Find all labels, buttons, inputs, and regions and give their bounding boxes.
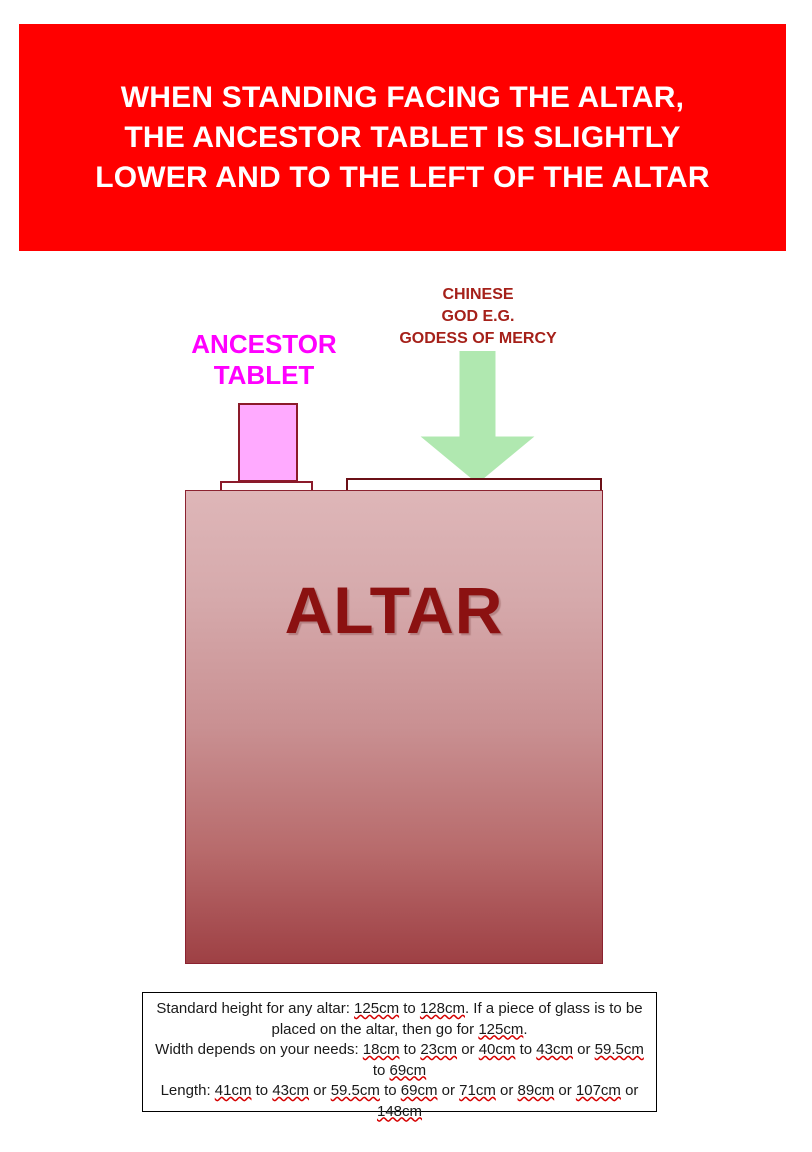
caption-line-2: Width depends on your needs: 18cm to 23c… — [150, 1040, 649, 1081]
altar-object: ALTAR — [185, 490, 603, 964]
chinese-god-label-line-1: CHINESE — [368, 284, 588, 306]
ancestor-tablet-label: ANCESTOR TABLET — [154, 329, 374, 391]
down-arrow-icon — [420, 351, 535, 484]
ancestor-tablet-label-line-2: TABLET — [154, 360, 374, 391]
chinese-god-label-line-2: GOD E.G. — [368, 306, 588, 328]
altar-label: ALTAR — [285, 575, 504, 645]
caption-line-1: Standard height for any altar: 125cm to … — [150, 999, 649, 1040]
ancestor-tablet-object — [238, 403, 298, 482]
ancestor-tablet-label-line-1: ANCESTOR — [154, 329, 374, 360]
dimensions-caption-box: Standard height for any altar: 125cm to … — [142, 992, 657, 1112]
caption-line-3: Length: 41cm to 43cm or 59.5cm to 69cm o… — [150, 1081, 649, 1122]
chinese-god-label-line-3: GODESS OF MERCY — [368, 328, 588, 350]
chinese-god-label: CHINESE GOD E.G. GODESS OF MERCY — [368, 284, 588, 350]
altar-diagram: ANCESTOR TABLET CHINESE GOD E.G. GODESS … — [0, 0, 812, 1152]
